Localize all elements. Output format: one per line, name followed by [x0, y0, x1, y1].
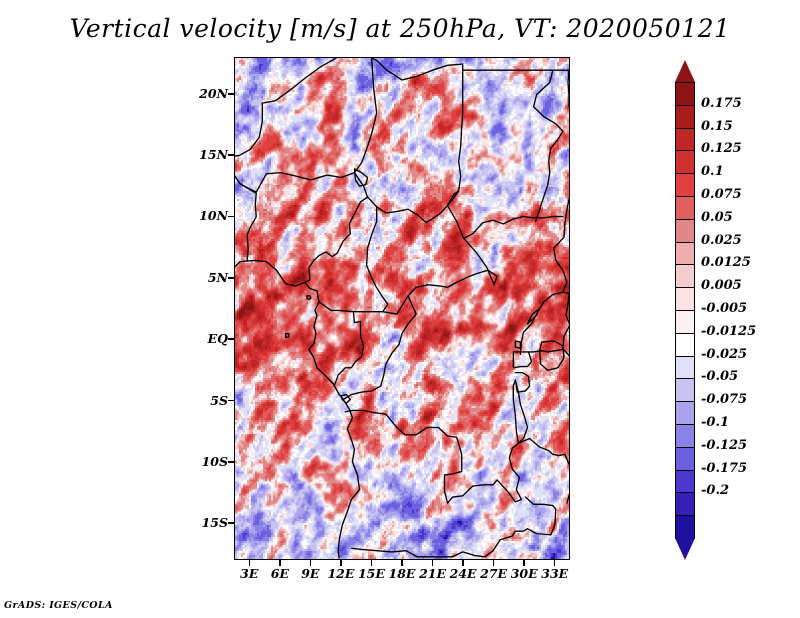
colorbar-band — [675, 310, 695, 334]
y-axis-label: 5N — [168, 270, 228, 285]
colorbar-band — [675, 287, 695, 311]
colorbar-tick-label: -0.125 — [701, 438, 747, 453]
border-polyline — [554, 199, 569, 292]
y-axis-tick — [228, 154, 234, 156]
border-polyline — [305, 173, 368, 283]
y-axis-label: 15S — [168, 515, 228, 530]
border-polyline — [235, 103, 262, 157]
colorbar-band — [675, 447, 695, 471]
border-polyline — [319, 302, 383, 312]
colorbar-band — [675, 515, 695, 539]
border-polyline — [372, 58, 463, 80]
border-polyline — [459, 64, 463, 191]
colorbar-band — [675, 128, 695, 152]
colorbar-tick-label: -0.175 — [701, 461, 747, 476]
colorbar-tick-label: -0.05 — [701, 369, 738, 384]
y-axis-tick — [228, 93, 234, 95]
border-polyline — [518, 438, 565, 455]
y-axis-label: 20N — [168, 86, 228, 101]
border-polyline — [262, 58, 336, 103]
colorbar-band — [675, 242, 695, 266]
y-axis-tick — [228, 216, 234, 218]
colorbar-tick-label: -0.025 — [701, 347, 747, 362]
colorbar-max-arrow — [675, 60, 695, 82]
colorbar-tick-label: -0.005 — [701, 301, 747, 316]
y-axis-label: EQ — [168, 331, 228, 346]
border-polyline — [515, 341, 520, 348]
colorbar-tick-label: 0.1 — [701, 164, 724, 179]
border-polyline — [351, 548, 432, 557]
border-polyline — [568, 70, 569, 107]
border-polyline — [368, 191, 459, 223]
border-polyline — [513, 352, 531, 368]
border-polyline — [240, 260, 359, 558]
border-polyline — [354, 58, 376, 173]
border-polyline — [515, 373, 529, 393]
border-polyline — [345, 410, 462, 503]
colorbar-band — [675, 264, 695, 288]
border-polyline — [383, 270, 497, 314]
y-axis-tick — [228, 277, 234, 279]
colorbar-band — [675, 333, 695, 357]
border-polyline — [244, 173, 354, 193]
border-polyline — [463, 443, 522, 502]
country-borders-overlay — [235, 58, 569, 558]
colorbar-band — [675, 105, 695, 129]
border-polyline — [235, 157, 244, 186]
border-polyline — [334, 312, 363, 386]
colorbar-band — [675, 401, 695, 425]
colorbar-tick-label: -0.0125 — [701, 324, 756, 339]
colorbar-tick-label: 0.15 — [701, 119, 733, 134]
border-polyline — [235, 262, 240, 267]
attribution-footer: GrADS: IGES/COLA — [4, 600, 113, 611]
colorbar-band — [675, 492, 695, 516]
border-polyline — [493, 497, 556, 551]
border-polyline — [432, 551, 493, 557]
page-title: Vertical velocity [m/s] at 250hPa, VT: 2… — [0, 14, 800, 43]
colorbar: 0.1750.150.1250.10.0750.050.0250.01250.0… — [675, 60, 695, 560]
border-polyline — [464, 217, 563, 239]
border-polyline — [286, 334, 289, 338]
border-polyline — [534, 70, 563, 221]
border-polyline — [448, 206, 495, 285]
colorbar-tick-label: 0.175 — [701, 96, 742, 111]
colorbar-band — [675, 470, 695, 494]
colorbar-tick-label: 0.125 — [701, 141, 742, 156]
colorbar-tick-label: 0.0125 — [701, 255, 751, 270]
x-axis-label: 33E — [535, 566, 575, 581]
y-axis-tick — [228, 461, 234, 463]
border-polyline — [244, 186, 256, 260]
colorbar-band — [675, 424, 695, 448]
colorbar-band — [675, 356, 695, 380]
map-plot-area — [234, 57, 570, 560]
colorbar-band — [675, 196, 695, 220]
y-axis-tick — [228, 400, 234, 402]
colorbar-band — [675, 82, 695, 106]
border-polyline — [307, 296, 311, 300]
colorbar-tick-label: -0.075 — [701, 392, 747, 407]
border-polyline — [367, 207, 388, 312]
y-axis-label: 15N — [168, 147, 228, 162]
colorbar-band — [675, 150, 695, 174]
colorbar-tick-label: -0.1 — [701, 415, 729, 430]
colorbar-tick-label: 0.05 — [701, 210, 733, 225]
y-axis-label: 5S — [168, 393, 228, 408]
colorbar-tick-label: 0.075 — [701, 187, 742, 202]
y-axis-label: 10N — [168, 208, 228, 223]
border-polyline — [540, 341, 564, 370]
border-polyline — [513, 380, 527, 443]
colorbar-tick-label: 0.005 — [701, 278, 742, 293]
colorbar-min-arrow — [675, 538, 695, 560]
border-polyline — [565, 454, 569, 503]
y-axis-label: 10S — [168, 454, 228, 469]
y-axis-tick — [228, 522, 234, 524]
colorbar-band — [675, 378, 695, 402]
y-axis-tick — [228, 338, 234, 340]
colorbar-tick-label: -0.2 — [701, 483, 729, 498]
colorbar-tick-label: 0.025 — [701, 233, 742, 248]
colorbar-band — [675, 219, 695, 243]
colorbar-band — [675, 173, 695, 197]
